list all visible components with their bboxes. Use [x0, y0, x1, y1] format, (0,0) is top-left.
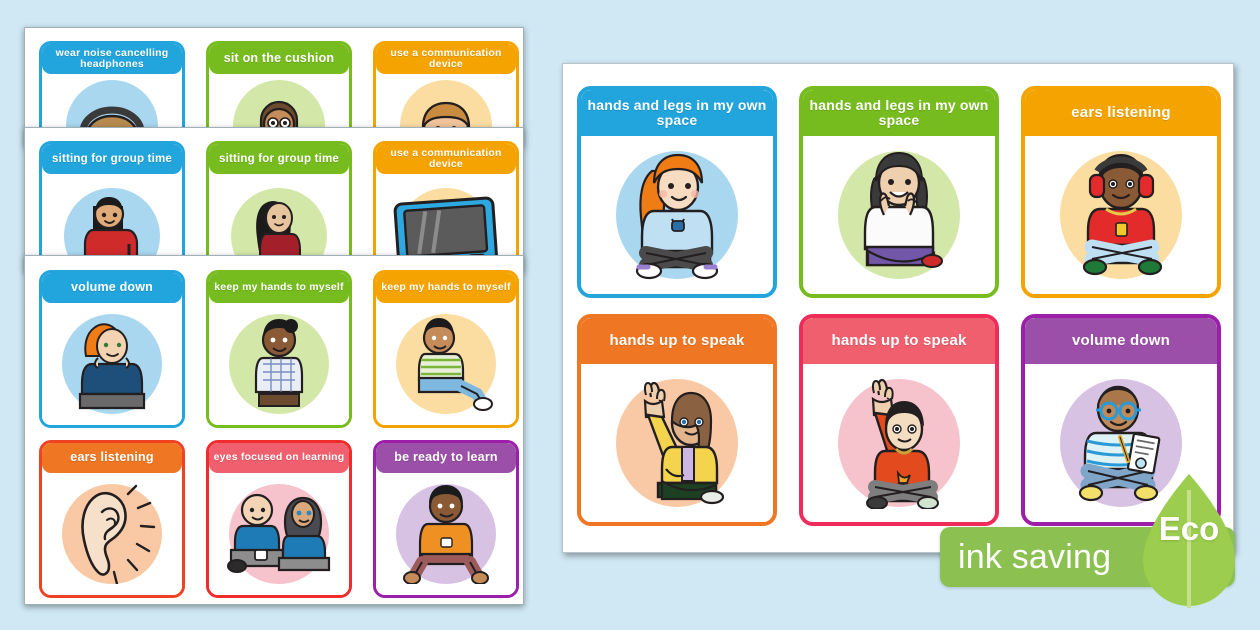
ink-saving-label: ink saving [958, 538, 1111, 577]
card-header: volume down [1025, 318, 1217, 364]
card-illustration [209, 473, 349, 595]
card-header: keep my hands to myself [376, 273, 516, 303]
card-label: keep my hands to myself [214, 282, 343, 293]
card-header: keep my hands to myself [209, 273, 349, 303]
card-ears-listening-right[interactable]: ears listening [1021, 86, 1221, 298]
card-header: be ready to learn [376, 443, 516, 473]
right-cards-grid: hands and legs in my own space [577, 86, 1221, 526]
card-hands-up-to-speak-pink[interactable]: hands up to speak [799, 314, 999, 526]
card-illustration [1025, 136, 1217, 294]
boy-hand-raised-icon [843, 377, 955, 509]
two-children-icon [223, 488, 335, 580]
card-illustration [376, 473, 516, 595]
card-label: eyes focused on learning [214, 452, 345, 463]
card-label: use a communication device [380, 148, 512, 170]
card-label: keep my hands to myself [381, 282, 510, 293]
card-hands-up-to-speak-orange[interactable]: hands up to speak [577, 314, 777, 526]
card-label: hands and legs in my own space [809, 98, 989, 128]
card-hands-and-legs-green[interactable]: hands and legs in my own space [799, 86, 999, 298]
eco-label: Eco [1159, 510, 1220, 548]
card-label: wear noise cancelling headphones [46, 48, 178, 70]
card-label: ears listening [70, 451, 153, 464]
eco-leaf-icon: Eco [1135, 470, 1243, 615]
card-header: hands up to speak [803, 318, 995, 364]
card-header: sit on the cushion [209, 44, 349, 74]
card-illustration [209, 303, 349, 425]
card-header: use a communication device [376, 44, 516, 74]
left-stacked-sheets: wear noise cancelling headphones sit on … [24, 27, 524, 605]
card-header: hands and legs in my own space [581, 90, 773, 136]
card-illustration [803, 364, 995, 522]
card-header: wear noise cancelling headphones [42, 44, 182, 74]
child-headphones-listening-icon [1062, 149, 1180, 281]
card-header: hands and legs in my own space [803, 90, 995, 136]
child-ready-icon [402, 484, 490, 584]
card-label: hands up to speak [609, 333, 744, 349]
card-label: hands and legs in my own space [587, 98, 767, 128]
ear-icon [62, 484, 162, 584]
card-illustration [581, 136, 773, 294]
card-hands-and-legs-blue[interactable]: hands and legs in my own space [577, 86, 777, 298]
card-volume-down-left[interactable]: volume down [39, 270, 185, 428]
child-hands-lap-icon [239, 314, 319, 414]
card-label: ears listening [1071, 105, 1171, 121]
card-header: ears listening [1025, 90, 1217, 136]
sheet-front-grid: volume down keep my hands to myself [39, 270, 511, 598]
card-header: use a communication device [376, 144, 516, 174]
card-label: hands up to speak [831, 333, 966, 349]
girl-legs-crossed-icon [616, 149, 738, 281]
card-keep-my-hands-to-myself-green[interactable]: keep my hands to myself [206, 270, 352, 428]
card-label: sitting for group time [52, 153, 172, 165]
card-header: sitting for group time [209, 144, 349, 174]
card-ears-listening-left[interactable]: ears listening [39, 440, 185, 598]
sheet-front: volume down keep my hands to myself [24, 255, 524, 605]
child-sitting-stripes-icon [399, 316, 493, 412]
card-header: eyes focused on learning [209, 443, 349, 473]
card-illustration [376, 303, 516, 425]
card-header: volume down [42, 273, 182, 303]
sheet-middle: sitting for group time [24, 127, 524, 272]
child-hands-up-palms-icon [840, 149, 958, 281]
card-illustration [581, 364, 773, 522]
right-flashcards-sheet: hands and legs in my own space [562, 63, 1234, 553]
card-header: sitting for group time [42, 144, 182, 174]
card-label: use a communication device [380, 48, 512, 70]
child-quiet-icon [64, 314, 160, 414]
card-keep-my-hands-to-myself-orange[interactable]: keep my hands to myself [373, 270, 519, 428]
card-header: hands up to speak [581, 318, 773, 364]
card-label: be ready to learn [394, 451, 497, 464]
card-header: ears listening [42, 443, 182, 473]
card-label: sitting for group time [219, 153, 339, 165]
girl-hand-raised-icon [618, 377, 736, 509]
card-label: sit on the cushion [224, 52, 335, 65]
card-label: volume down [1072, 333, 1170, 349]
card-eyes-focused-on-learning[interactable]: eyes focused on learning [206, 440, 352, 598]
card-label: volume down [71, 281, 153, 294]
card-illustration [803, 136, 995, 294]
card-be-ready-to-learn[interactable]: be ready to learn [373, 440, 519, 598]
card-illustration [42, 303, 182, 425]
card-illustration [42, 473, 182, 595]
